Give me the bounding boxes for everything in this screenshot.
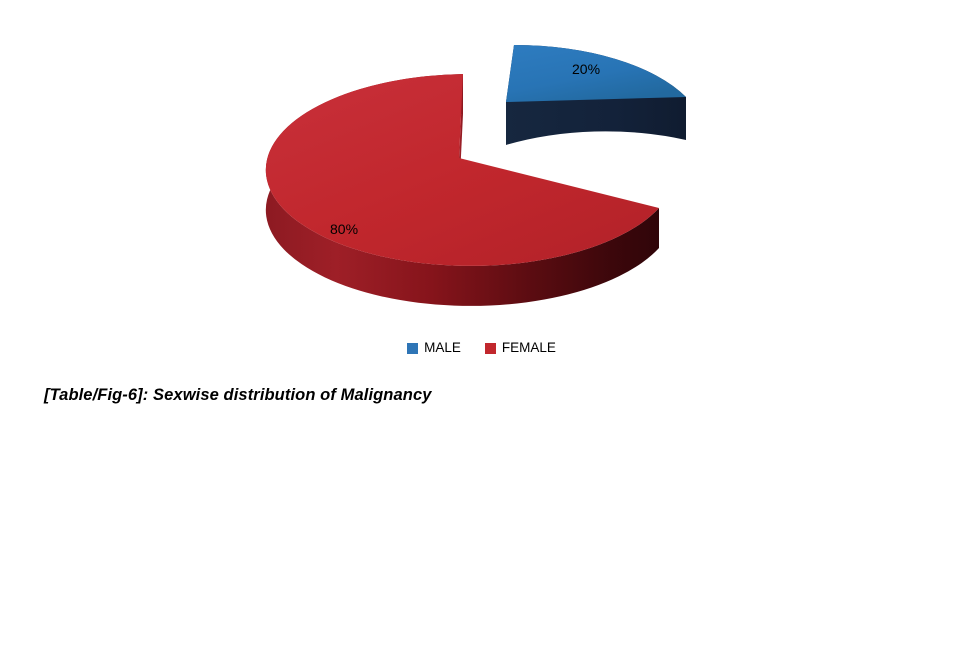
pie-chart-svg [0, 0, 963, 330]
legend-swatch-male-icon [407, 343, 418, 354]
legend-swatch-female-icon [485, 343, 496, 354]
pie-slice-male-3d[interactable] [506, 45, 686, 145]
legend-item-female[interactable]: FEMALE [485, 341, 556, 355]
slice-label-female: 80% [330, 222, 358, 236]
legend-label-female: FEMALE [502, 341, 556, 355]
figure-caption: [Table/Fig-6]: Sexwise distribution of M… [44, 386, 432, 405]
chart-legend: MALE FEMALE [0, 336, 963, 360]
figure-root: 20% 80% MALE FEMALE [Table/Fig-6]: Sexwi… [0, 0, 963, 672]
pie-chart-3d: 20% 80% [0, 0, 963, 330]
legend-label-male: MALE [424, 341, 461, 355]
slice-label-male: 20% [572, 62, 600, 76]
legend-item-male[interactable]: MALE [407, 341, 461, 355]
